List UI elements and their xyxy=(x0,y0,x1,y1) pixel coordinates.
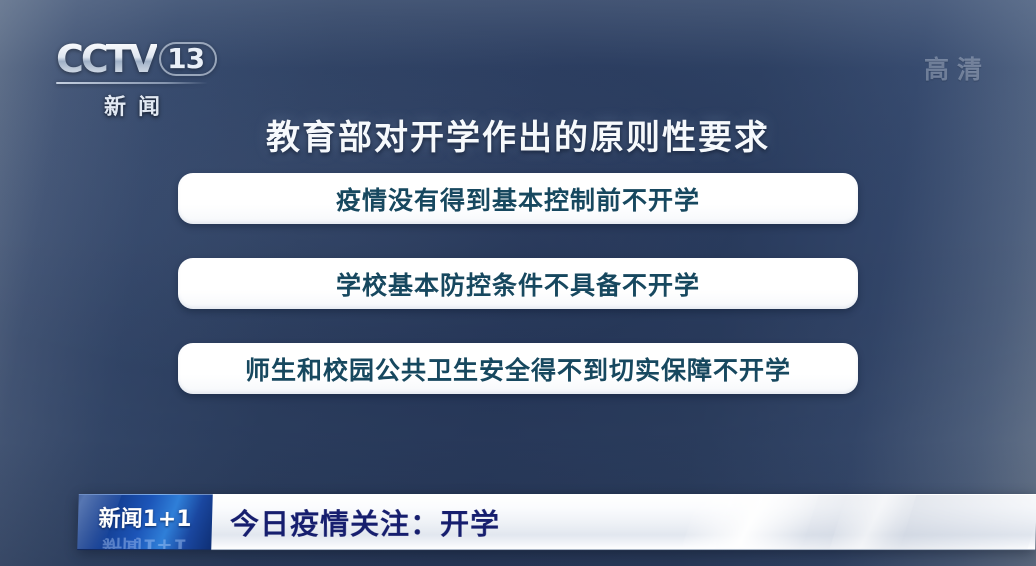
slate-point-item: 疫情没有得到基本控制前不开学 xyxy=(178,173,858,224)
program-logo-reflection: 新闻1+1 xyxy=(77,534,211,550)
program-logo-block: 新闻1+1 新闻1+1 xyxy=(77,494,213,550)
slate-point-text: 师生和校园公共卫生安全得不到切实保障不开学 xyxy=(245,351,791,387)
lower-third-highlight-streak xyxy=(681,495,818,549)
channel-logo: CCTV 13 新闻 xyxy=(56,38,217,121)
hd-watermark: 高清 xyxy=(924,50,990,86)
channel-number: 13 xyxy=(167,45,204,73)
channel-number-capsule: 13 xyxy=(159,42,217,76)
slate-point-item: 师生和校园公共卫生安全得不到切实保障不开学 xyxy=(178,343,858,394)
cctv-wordmark: CCTV xyxy=(56,40,157,78)
channel-logo-underline xyxy=(56,82,208,84)
lower-third-bar: 今日疫情关注：开学 xyxy=(211,494,1036,550)
slate-point-text: 学校基本防控条件不具备不开学 xyxy=(336,266,700,302)
lower-third-topic: 今日疫情关注：开学 xyxy=(212,501,500,543)
lower-third-banner: 新闻1+1 新闻1+1 今日疫情关注：开学 xyxy=(77,494,1036,550)
slate-points-list: 疫情没有得到基本控制前不开学 学校基本防控条件不具备不开学 师生和校园公共卫生安… xyxy=(178,173,858,394)
slate-title: 教育部对开学作出的原则性要求 xyxy=(266,110,770,159)
channel-logo-row: CCTV 13 xyxy=(56,38,217,80)
channel-subtitle: 新闻 xyxy=(56,89,208,121)
slate-point-item: 学校基本防控条件不具备不开学 xyxy=(178,258,858,309)
slate-point-text: 疫情没有得到基本控制前不开学 xyxy=(336,181,700,217)
broadcast-screen: CCTV 13 新闻 高清 教育部对开学作出的原则性要求 疫情没有得到基本控制前… xyxy=(0,0,1036,566)
program-logo-text: 新闻1+1 xyxy=(78,501,213,533)
